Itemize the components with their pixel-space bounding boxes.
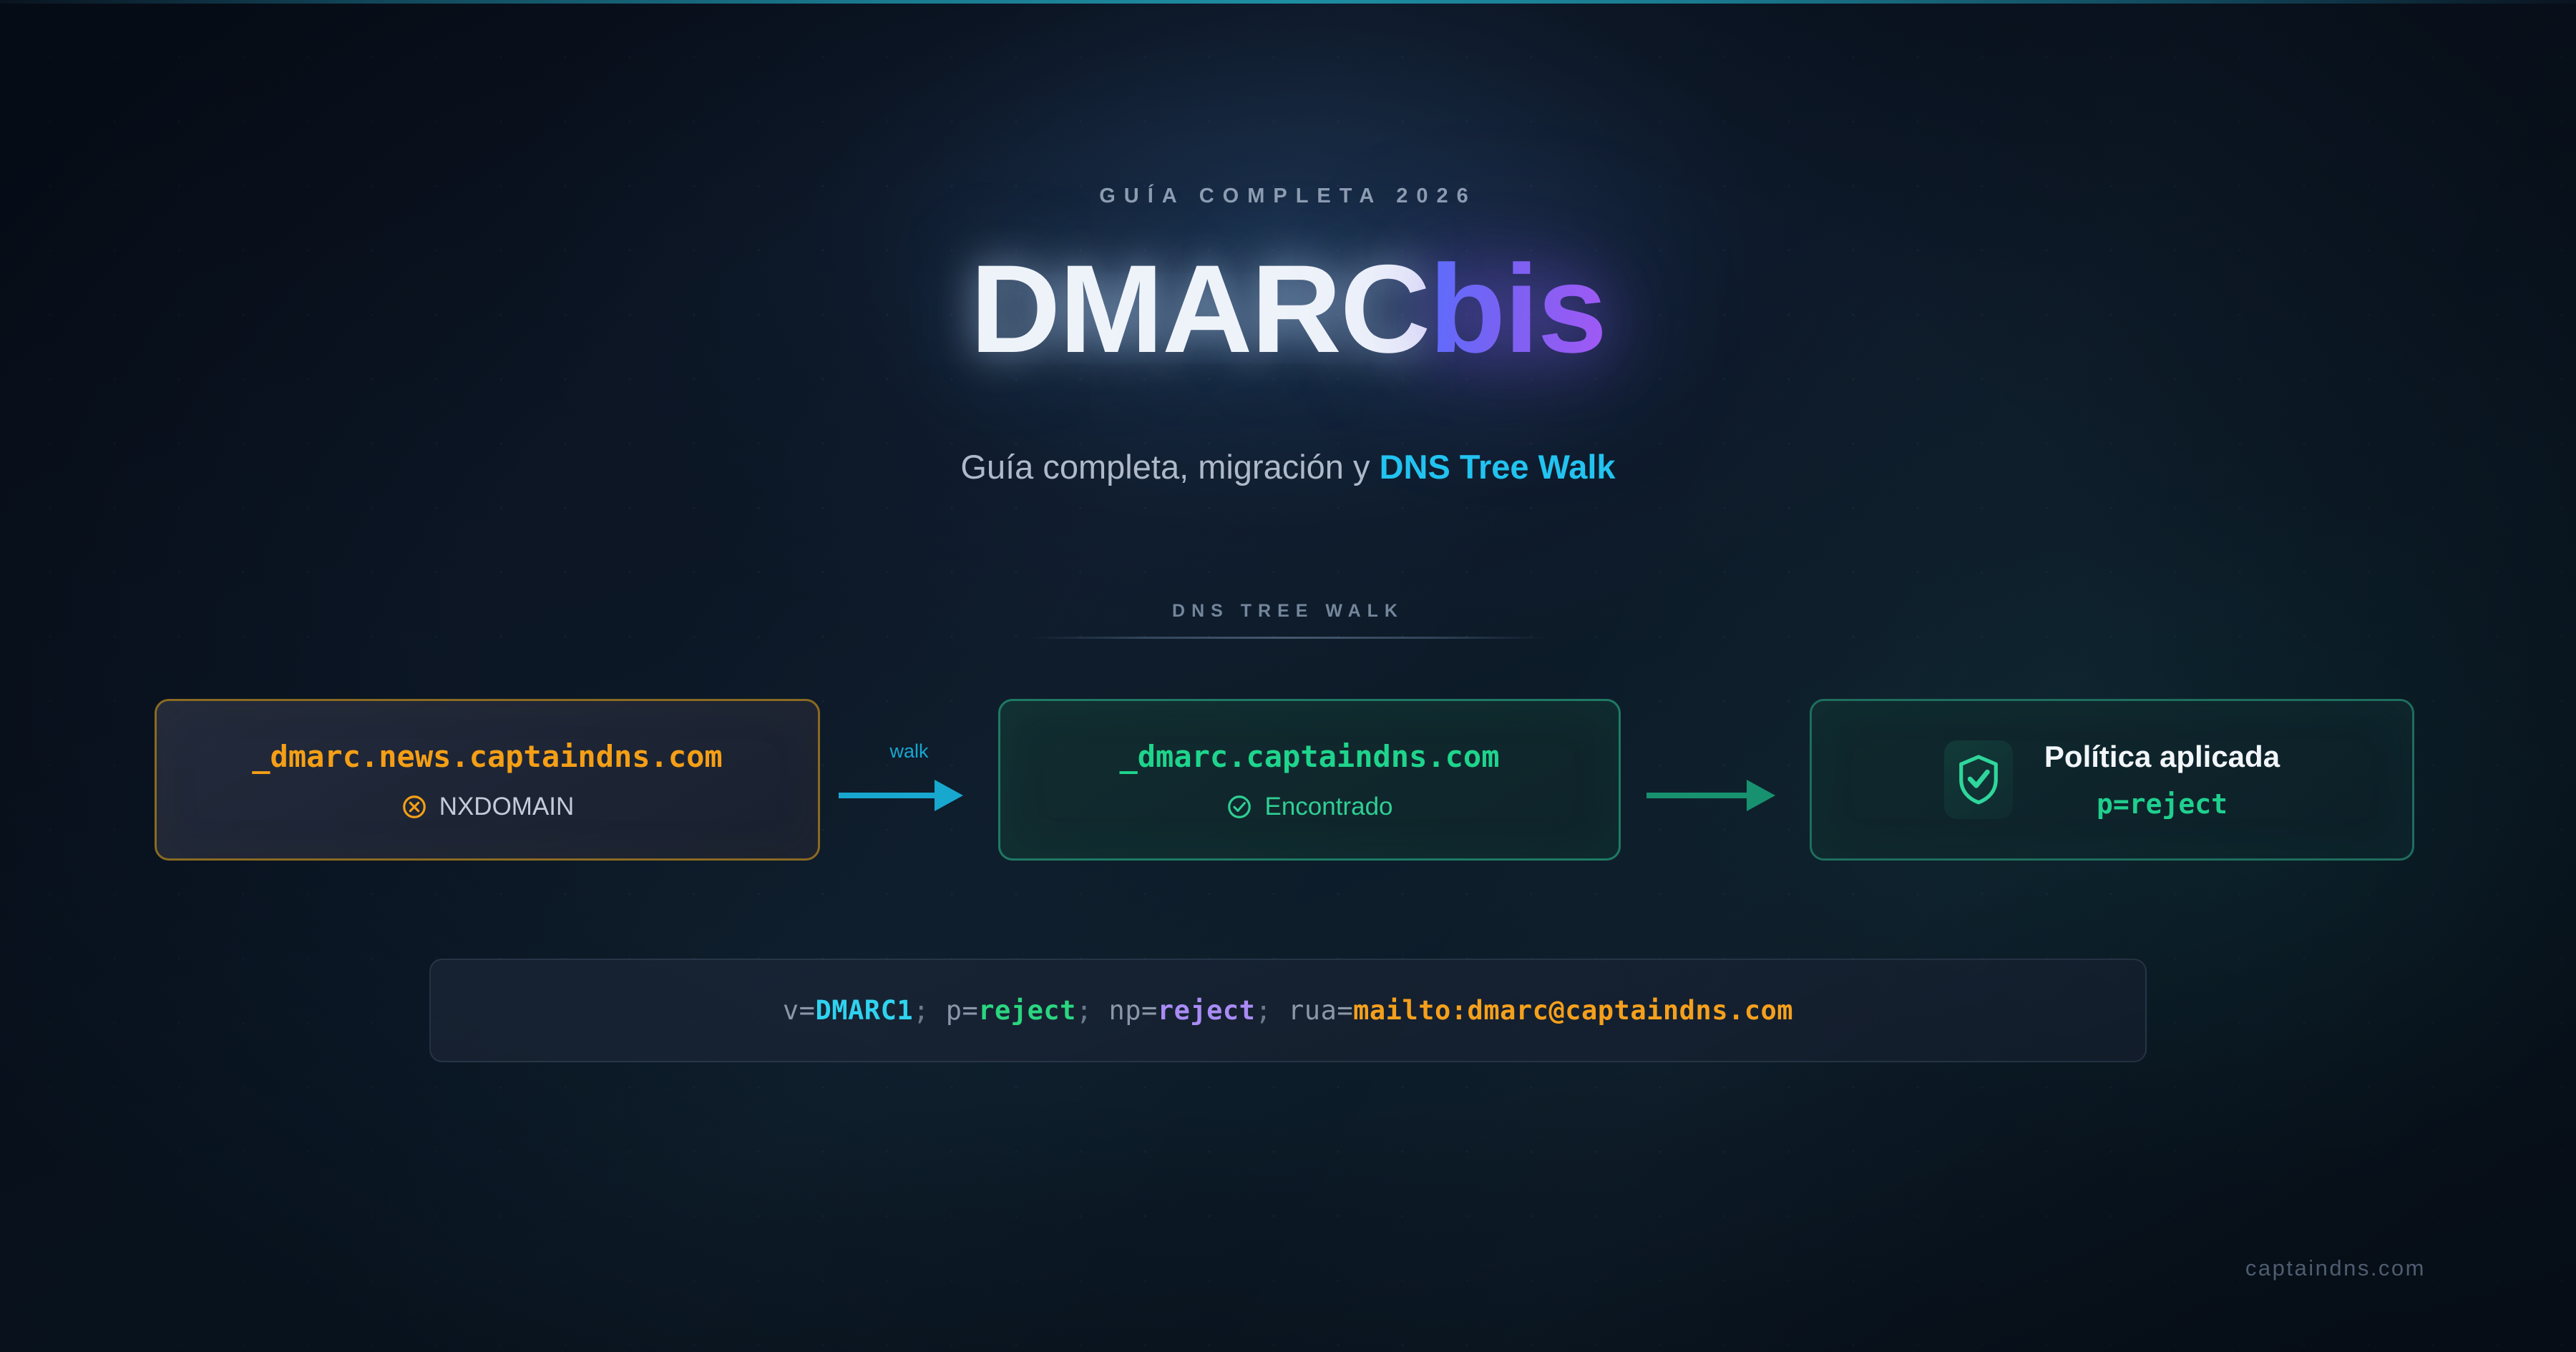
flow-card-nxdomain[interactable]: _dmarc.news.captaindns.com NXDOMAIN — [155, 699, 820, 861]
footer-brand: captaindns.com — [2245, 1255, 2426, 1281]
flow-card-domain: _dmarc.captaindns.com — [1119, 739, 1499, 774]
section-label: DNS TREE WALK — [0, 601, 2576, 622]
subtitle-highlight: DNS Tree Walk — [1380, 448, 1616, 486]
policy-text-block: Política aplicada p=reject — [2044, 740, 2280, 820]
record-token-key: rua= — [1288, 995, 1353, 1026]
slide-stage: GUÍA COMPLETA 2026 DMARCbis Guía complet… — [0, 0, 2576, 1352]
subtitle: Guía completa, migración y DNS Tree Walk — [0, 447, 2576, 486]
wordmark: DMARCbis — [0, 242, 2576, 377]
policy-title: Política aplicada — [2044, 740, 2280, 774]
flow-card-status: NXDOMAIN — [401, 793, 575, 821]
shield-check-icon — [1944, 740, 2013, 819]
flow-card-status-text: Encontrado — [1264, 793, 1392, 821]
section-divider — [1030, 637, 1546, 639]
record-token-rua: mailto:dmarc@captaindns.com — [1353, 995, 1793, 1026]
flow-card-status-text: NXDOMAIN — [439, 793, 575, 821]
policy-value: p=reject — [2097, 788, 2228, 820]
dmarc-record-bar[interactable]: v=DMARC1; p=reject; np=reject; rua=mailt… — [429, 959, 2147, 1062]
record-token-punct: ; — [1076, 995, 1109, 1026]
record-token-punct: ; — [1255, 995, 1288, 1026]
flow-card-domain: _dmarc.news.captaindns.com — [252, 739, 722, 774]
flow-card-status: Encontrado — [1226, 793, 1392, 821]
arrow-right-icon — [839, 780, 963, 811]
flow-card-found[interactable]: _dmarc.captaindns.com Encontrado — [998, 699, 1621, 861]
subtitle-lead: Guía completa, migración y — [960, 448, 1379, 486]
flow-arrow-label: walk — [820, 740, 998, 763]
record-token-punct: ; — [913, 995, 946, 1026]
flow-card-policy[interactable]: Política aplicada p=reject — [1810, 699, 2414, 861]
wordmark-accent: bis — [1429, 240, 1606, 379]
flow-arrow-walk: walk — [820, 699, 998, 861]
record-token-key: v= — [783, 995, 816, 1026]
wordmark-primary: DMARC — [970, 240, 1429, 379]
record-token-v: DMARC1 — [815, 995, 913, 1026]
flow-arrow-policy — [1621, 699, 1810, 861]
eyebrow-label: GUÍA COMPLETA 2026 — [0, 185, 2576, 208]
dmarc-record-text: v=DMARC1; p=reject; np=reject; rua=mailt… — [783, 995, 1793, 1026]
circle-x-icon — [401, 793, 428, 820]
circle-check-icon — [1226, 793, 1253, 820]
record-token-p: reject — [978, 995, 1076, 1026]
record-token-np: reject — [1158, 995, 1256, 1026]
record-token-key: np= — [1108, 995, 1157, 1026]
dns-tree-walk-flow: _dmarc.news.captaindns.com NXDOMAIN walk — [155, 699, 2421, 861]
arrow-right-icon — [1646, 780, 1775, 811]
record-token-key: p= — [946, 995, 979, 1026]
